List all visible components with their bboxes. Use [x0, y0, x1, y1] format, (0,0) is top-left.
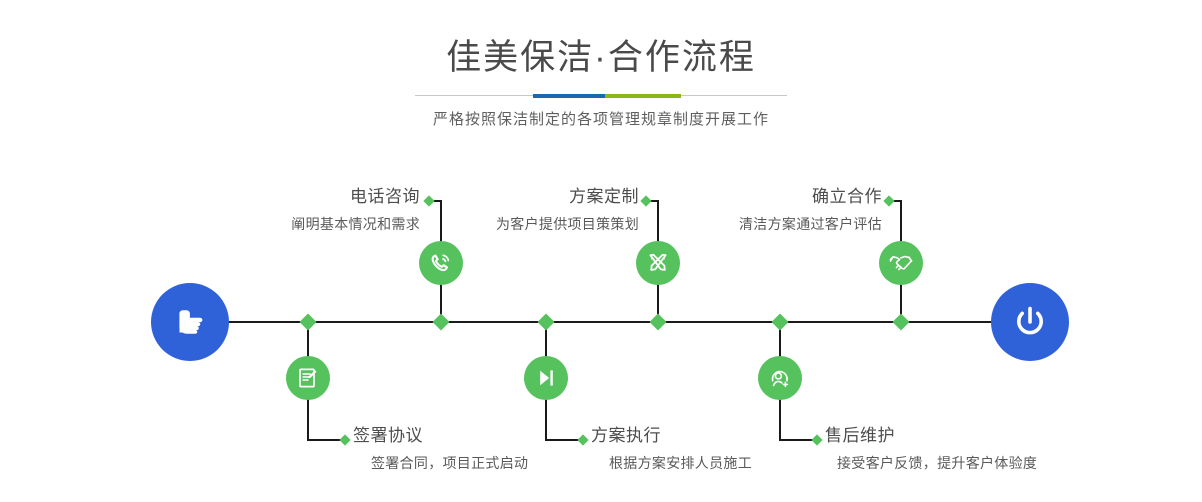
headset-support-add-icon: [767, 365, 793, 391]
timeline-diamond: [772, 314, 789, 331]
timeline-diamond: [650, 314, 667, 331]
handshake-icon: [887, 249, 915, 277]
cooperation-flow-diagram: 电话咨询 阐明基本情况和需求 方案定制 为客户提供项目策策划 确立合作 清洁方案…: [0, 0, 1202, 502]
step-title: 方案执行: [591, 426, 851, 446]
flow-end-node[interactable]: [991, 283, 1069, 361]
step-label-establish-cooperation: 确立合作 清洁方案通过客户评估: [639, 187, 882, 233]
label-diamond: [339, 434, 350, 445]
step-desc: 签署合同，项目正式启动: [353, 446, 613, 472]
step-title: 签署协议: [353, 426, 613, 446]
timeline-diamond: [893, 314, 910, 331]
power-button-icon: [1009, 301, 1051, 343]
step-label-after-sales: 售后维护 接受客户反馈，提升客户体验度: [825, 426, 1115, 472]
step-node-sign-agreement[interactable]: [286, 356, 330, 400]
document-edit-icon: [295, 365, 321, 391]
step-node-plan-design[interactable]: [636, 241, 680, 285]
pencil-ruler-icon: [645, 250, 671, 276]
step-node-after-sales[interactable]: [758, 356, 802, 400]
step-label-sign-agreement: 签署协议 签署合同，项目正式启动: [353, 426, 613, 472]
step-desc: 清洁方案通过客户评估: [639, 207, 882, 233]
step-label-plan-design: 方案定制 为客户提供项目策策划: [396, 187, 639, 233]
step-node-phone-call[interactable]: [419, 241, 463, 285]
step-title: 确立合作: [639, 187, 882, 207]
step-label-plan-execution: 方案执行 根据方案安排人员施工: [591, 426, 851, 472]
step-node-establish-cooperation[interactable]: [879, 241, 923, 285]
timeline-diamond: [433, 314, 450, 331]
step-label-phone-call: 电话咨询 阐明基本情况和需求: [170, 187, 420, 233]
step-desc: 接受客户反馈，提升客户体验度: [825, 446, 1115, 472]
step-title: 方案定制: [396, 187, 639, 207]
step-node-plan-execution[interactable]: [524, 356, 568, 400]
pointing-hand-icon: [170, 302, 210, 342]
phone-call-icon: [428, 250, 454, 276]
timeline-diamond: [538, 314, 555, 331]
step-desc: 阐明基本情况和需求: [170, 207, 420, 233]
step-desc: 根据方案安排人员施工: [591, 446, 851, 472]
play-execute-icon: [533, 365, 559, 391]
step-title: 电话咨询: [170, 187, 420, 207]
flow-start-node[interactable]: [151, 283, 229, 361]
label-diamond: [883, 195, 894, 206]
step-title: 售后维护: [825, 426, 1115, 446]
step-desc: 为客户提供项目策策划: [396, 207, 639, 233]
timeline-diamond: [300, 314, 317, 331]
